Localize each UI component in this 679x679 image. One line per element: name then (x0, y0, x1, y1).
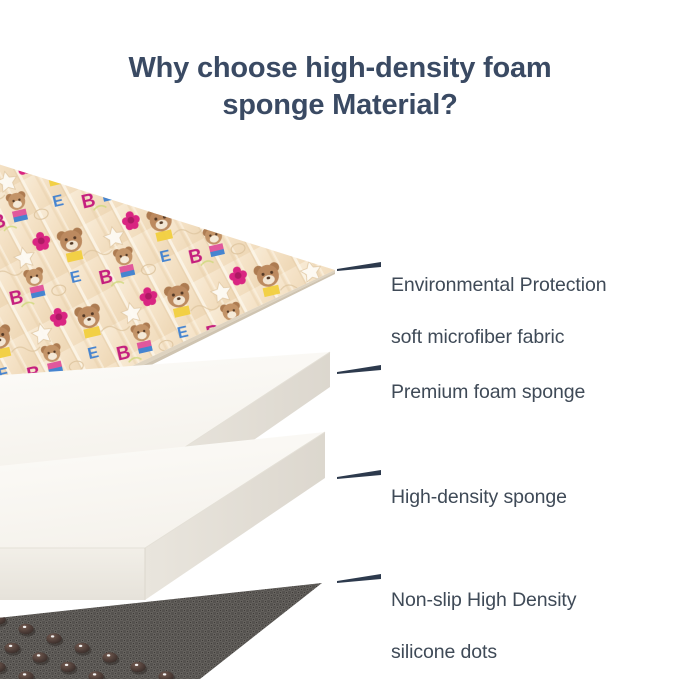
callout-silicone-line-2: silicone dots (391, 639, 576, 665)
callout-density-line-1: High-density sponge (391, 484, 567, 510)
leader-line-icon-premium (337, 365, 381, 374)
callout-fabric-line-2: soft microfiber fabric (391, 324, 606, 350)
leader-line-icon-fabric (337, 262, 381, 271)
callout-premium-line-1: Premium foam sponge (391, 379, 585, 405)
callout-label-silicone: Non-slip High Density silicone dots (391, 561, 576, 679)
callout-silicone-line-1: Non-slip High Density (391, 587, 576, 613)
callout-fabric-line-1: Environmental Protection (391, 272, 606, 298)
callout-label-density: High-density sponge (391, 458, 567, 536)
callout-label-premium: Premium foam sponge (391, 353, 585, 431)
infographic-canvas: Why choose high-density foam sponge Mate… (0, 0, 679, 679)
leader-line-icon-density (337, 470, 381, 479)
leader-line-icon-silicone (337, 574, 381, 583)
